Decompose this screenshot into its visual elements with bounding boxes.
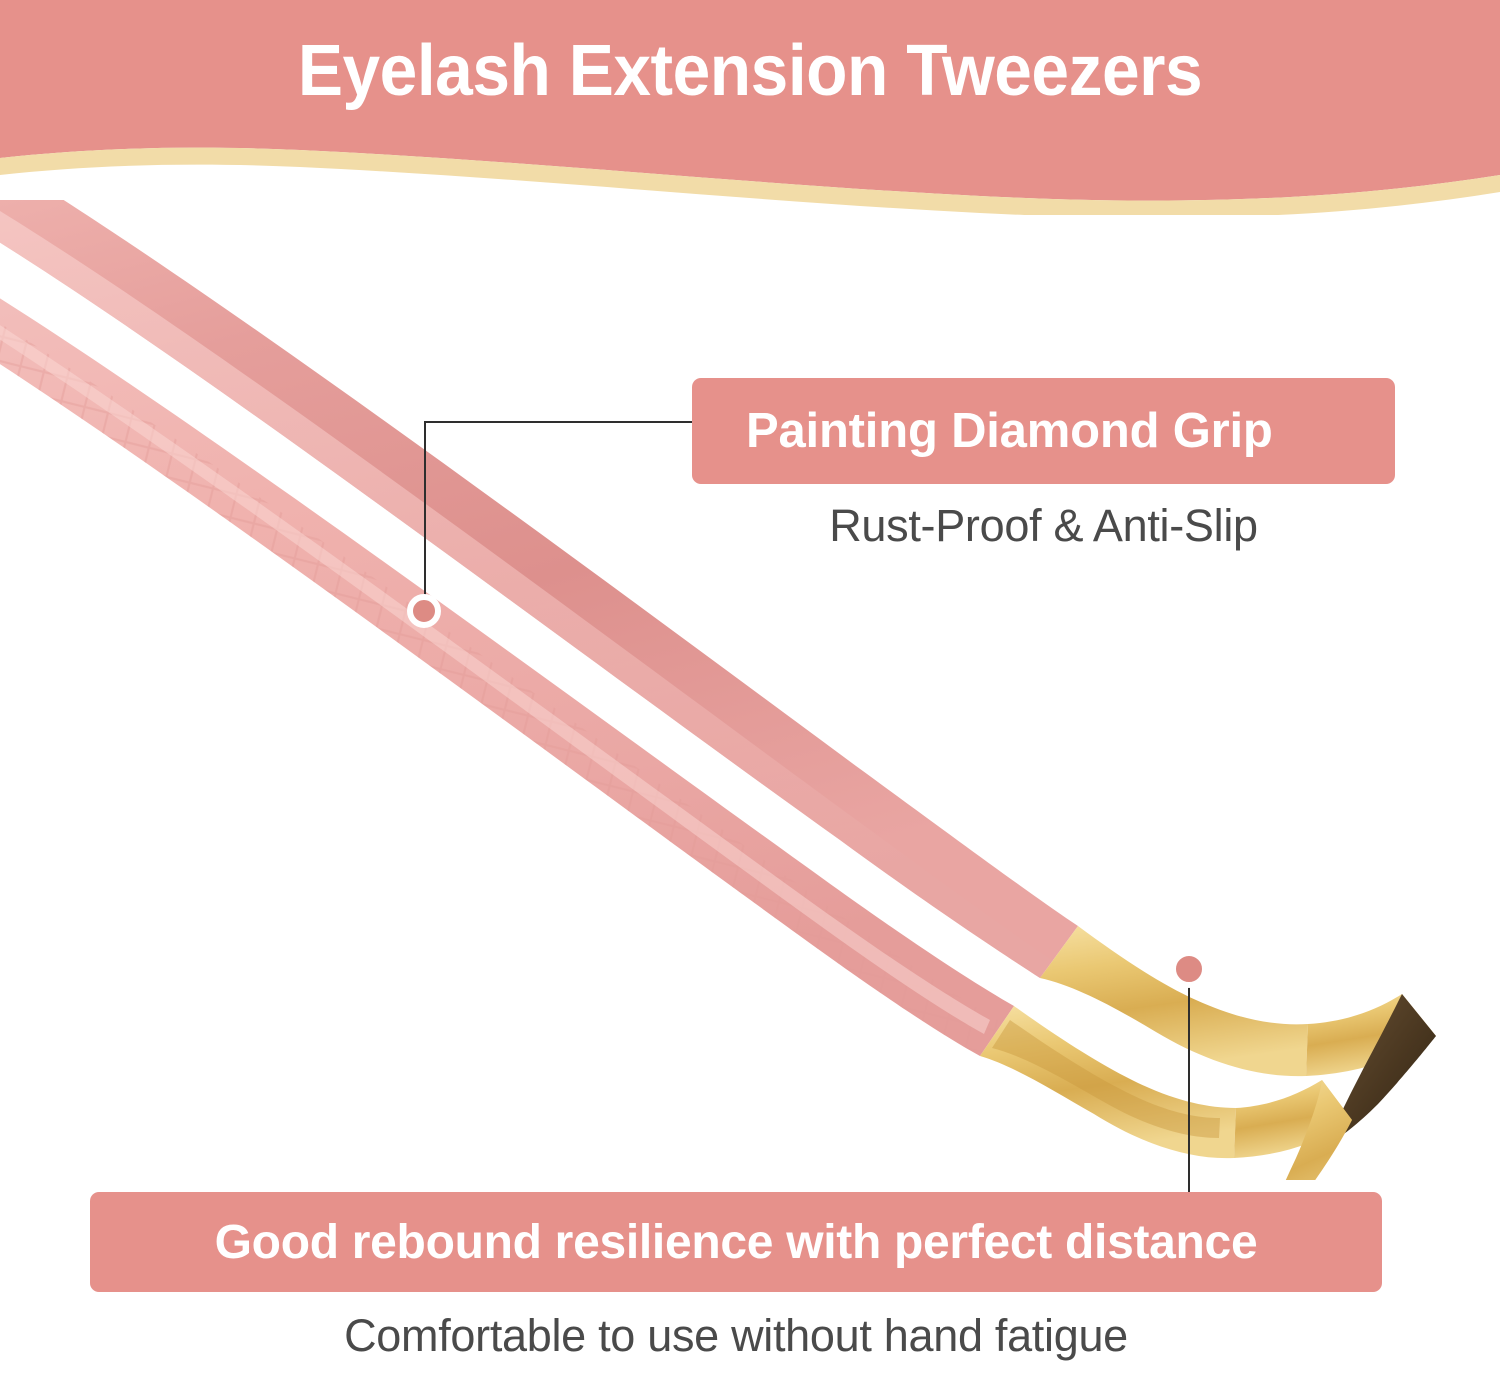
callout-subtitle-comfortable-to-use: Comfortable to use without hand fatigue: [90, 1310, 1382, 1362]
product-image: Ms.W: [0, 200, 1500, 1180]
grip-marker-ring-icon: [407, 594, 441, 628]
page-title: Eyelash Extension Tweezers: [45, 28, 1455, 114]
tweezer-upper-arm-highlight: [0, 200, 1052, 978]
leader-line-grip-horizontal: [424, 421, 694, 423]
product-infographic: Eyelash Extension Tweezers: [0, 0, 1500, 1379]
callout-badge-good-rebound-resilience: Good rebound resilience with perfect dis…: [90, 1192, 1382, 1292]
tip-marker-ring-icon: [1170, 950, 1208, 988]
tweezers-illustration: [0, 200, 1500, 1180]
callout-subtitle-rust-proof: Rust-Proof & Anti-Slip: [692, 500, 1395, 552]
callout-badge-painting-diamond-grip: Painting Diamond Grip: [692, 378, 1395, 484]
header-banner: Eyelash Extension Tweezers: [0, 0, 1500, 215]
leader-line-grip-vertical: [424, 421, 426, 611]
leader-line-rebound-vertical: [1188, 968, 1190, 1194]
